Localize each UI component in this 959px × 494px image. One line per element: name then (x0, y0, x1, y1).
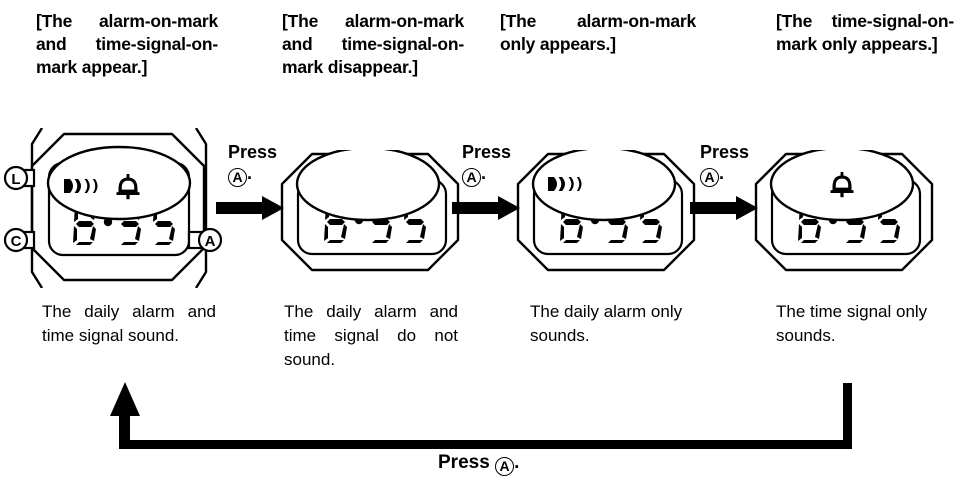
watch-illustration-step-2 (276, 150, 466, 285)
press-button-a-icon-2: A (462, 168, 481, 187)
highlight-ellipse-step-4 (771, 150, 913, 220)
note-step-2: [The alarm-on-mark and time-signal-on-ma… (282, 10, 464, 79)
highlight-ellipse-step-2 (297, 150, 439, 220)
caption-step-1: The daily alarm and time signal sound. (42, 300, 216, 348)
press-label-3: Press A. (700, 142, 749, 187)
svg-text:C: C (11, 233, 22, 250)
press-word-3: Press (700, 142, 749, 162)
bottom-press-word: Press (438, 452, 490, 473)
watch-button-C[interactable]: C (5, 229, 27, 251)
diagram-page: [The alarm-on-mark and time-signal-on-ma… (0, 0, 959, 494)
note-step-3: [The alarm-on-mark only appears.] (500, 10, 696, 56)
note-step-4: [The time-signal-on-mark only appears.] (776, 10, 954, 56)
watch-button-L[interactable]: L (5, 167, 27, 189)
press-button-a-icon-1: A (228, 168, 247, 187)
caption-step-2: The daily alarm and time signal do not s… (284, 300, 458, 372)
bottom-press-period: . (514, 452, 519, 473)
watch-band-left (32, 128, 42, 288)
caption-step-3: The daily alarm only sounds. (530, 300, 720, 348)
watch-button-A[interactable]: A (199, 229, 221, 251)
svg-text:A: A (205, 233, 216, 250)
press-label-2: Press A. (462, 142, 511, 187)
caption-step-4: The time signal only sounds. (776, 300, 954, 348)
feedback-loop-arrow (100, 378, 870, 463)
bottom-press-button-a-icon: A (495, 457, 514, 476)
press-label-1: Press A. (228, 142, 277, 187)
svg-text:L: L (11, 171, 20, 188)
press-word-2: Press (462, 142, 511, 162)
watch-illustration-step-4 (750, 150, 940, 285)
press-word-1: Press (228, 142, 277, 162)
press-period-2: . (481, 163, 486, 183)
bottom-press-label: Press A. (438, 452, 519, 476)
press-button-a-icon-3: A (700, 168, 719, 187)
note-step-1: [The alarm-on-mark and time-signal-on-ma… (36, 10, 218, 79)
press-period-1: . (247, 163, 252, 183)
press-period-3: . (719, 163, 724, 183)
watch-illustration-step-3 (512, 150, 702, 285)
